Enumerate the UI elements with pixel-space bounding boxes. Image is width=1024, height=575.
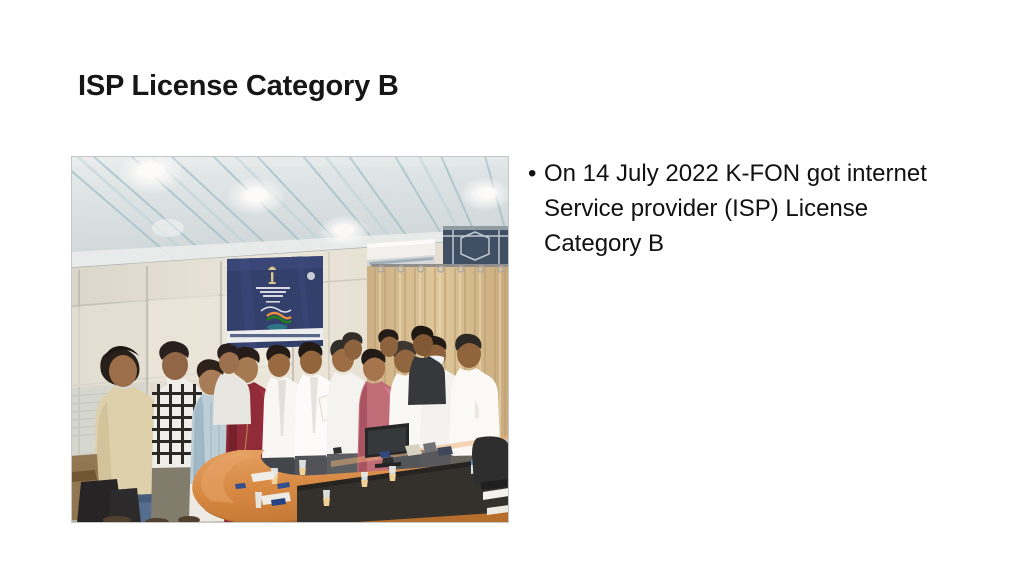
group-photo <box>71 156 509 523</box>
page-title: ISP License Category B <box>78 70 399 103</box>
body-content: • On 14 July 2022 K-FON got internet Ser… <box>528 156 948 261</box>
group-photo-illustration <box>71 156 509 523</box>
list-item: • On 14 July 2022 K-FON got internet Ser… <box>528 156 948 261</box>
bullet-text: On 14 July 2022 K-FON got internet Servi… <box>544 156 948 261</box>
bullet-point-icon: • <box>528 156 544 191</box>
presentation-slide: ISP License Category B <box>0 0 1024 575</box>
